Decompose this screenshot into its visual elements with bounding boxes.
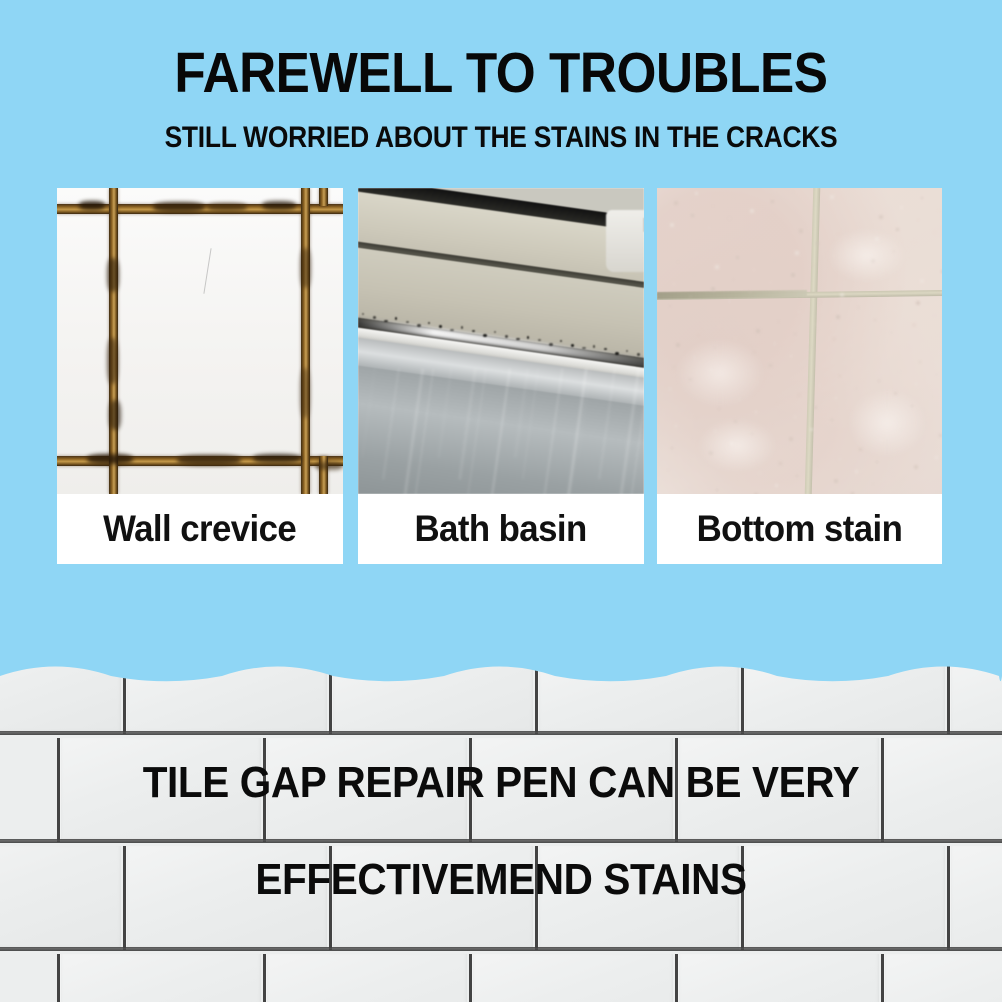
top-blue-section: FAREWELL TO TROUBLES STILL WORRIED ABOUT… [0, 0, 1002, 690]
stained-wall-tile-grout-photo [57, 188, 343, 494]
footer-line-2: EFFECTIVEMEND STAINS [40, 855, 962, 905]
problem-card-bath-basin: Bath basin [358, 188, 644, 564]
product-ad-image: FAREWELL TO TROUBLES STILL WORRIED ABOUT… [0, 0, 1002, 1002]
problem-card-wall-crevice: Wall crevice [57, 188, 343, 564]
page-title: FAREWELL TO TROUBLES [50, 44, 952, 102]
card-caption-label: Bottom stain [697, 508, 903, 550]
card-caption-band: Wall crevice [57, 494, 343, 564]
card-caption-band: Bath basin [358, 494, 644, 564]
card-caption-band: Bottom stain [657, 494, 942, 564]
mouldy-sink-seam-photo [358, 188, 644, 494]
card-caption-label: Bath basin [415, 508, 587, 550]
footer-copy: TILE GAP REPAIR PEN CAN BE VERY EFFECTIV… [0, 648, 1002, 1002]
footer-line-1: TILE GAP REPAIR PEN CAN BE VERY [40, 758, 962, 808]
card-caption-label: Wall crevice [103, 508, 296, 550]
floor-tile-grout-photo [657, 188, 942, 494]
page-subtitle: STILL WORRIED ABOUT THE STAINS IN THE CR… [60, 122, 942, 154]
problem-card-bottom-stain: Bottom stain [657, 188, 942, 564]
bottom-tile-wall-section: TILE GAP REPAIR PEN CAN BE VERY EFFECTIV… [0, 648, 1002, 1002]
